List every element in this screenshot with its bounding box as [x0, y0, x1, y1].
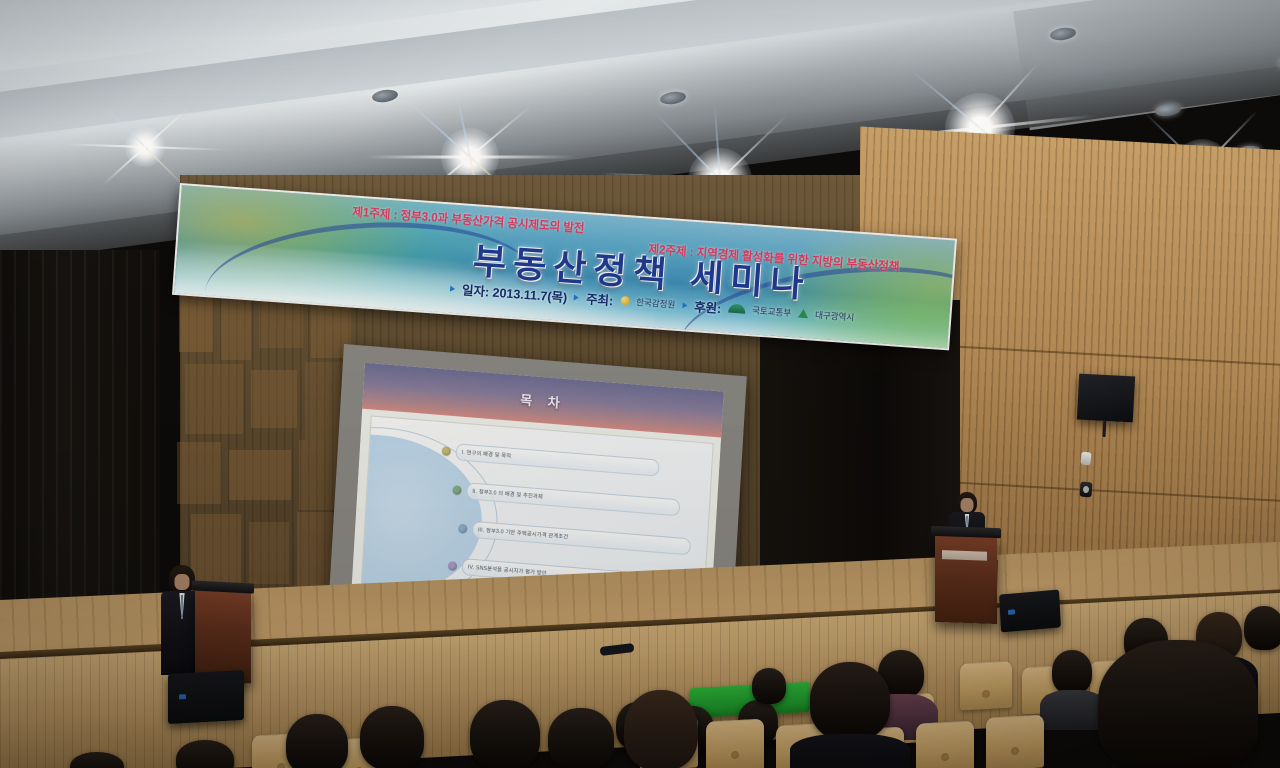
toc-pill: II. 정부3.0 의 배경 및 추진과제: [466, 482, 681, 516]
bullet-triangle-icon: [682, 302, 687, 308]
host-logo-icon: [620, 296, 630, 306]
toc-item: III. 정부3.0 기반 주택공시가격 관계조건: [458, 521, 692, 555]
toc-item-label: II. 정부3.0 의 배경 및 추진과제: [472, 488, 543, 501]
monitor-speaker-right: [999, 589, 1061, 632]
auditorium-seat: [706, 718, 764, 768]
audience-shoulders: [1040, 690, 1106, 730]
slide-title: 목 차: [520, 389, 567, 412]
toc-bullet-dot: [452, 485, 462, 495]
speaker-led: [1008, 609, 1015, 615]
podium-nameplate: [942, 550, 987, 560]
speaker-led: [179, 694, 186, 699]
banner-host-name: 한국감정원: [636, 295, 676, 310]
toc-item: II. 정부3.0 의 배경 및 추진과제: [452, 482, 681, 515]
audience-head: [548, 708, 614, 768]
audience-head: [624, 690, 698, 768]
toc-bullet-dot: [441, 446, 451, 456]
presenter-face: [961, 498, 974, 512]
banner-sponsor-1: 국토교통부: [752, 304, 792, 319]
toc-pill: III. 정부3.0 기반 주택공시가격 관계조건: [471, 521, 691, 556]
toc-item-label: III. 정부3.0 기반 주택공시가격 관계조건: [478, 526, 569, 540]
bullet-triangle-icon: [450, 285, 455, 291]
auditorium-seat: [986, 714, 1044, 768]
audience-head: [286, 714, 348, 768]
toc-bullet-dot: [448, 561, 458, 571]
toc-item: I. 연구의 배경 및 목적: [441, 443, 659, 475]
banner-host-label: 주최:: [586, 288, 614, 309]
audience-head: [470, 700, 540, 768]
podium-right: [935, 534, 997, 624]
banner-sponsor-label: 후원:: [694, 296, 722, 317]
bullet-triangle-icon: [574, 294, 579, 300]
wall-camera: [1079, 482, 1092, 498]
toc-item-label: I. 연구의 배경 및 목적: [461, 449, 511, 460]
daegu-logo-icon: [798, 309, 809, 319]
audience-head: [1052, 650, 1092, 694]
audience-head: [1098, 640, 1258, 768]
auditorium-seat: [960, 661, 1012, 711]
podium-top-surface: [931, 526, 1000, 538]
ministry-logo-icon: [728, 304, 746, 314]
audience-head: [1244, 606, 1280, 650]
audience-shoulders: [790, 734, 910, 768]
podium-left: [195, 589, 251, 684]
audience-head: [360, 706, 424, 768]
presenter-face: [175, 574, 190, 590]
emergency-light: [1080, 452, 1091, 466]
auditorium-seat: [916, 720, 974, 768]
audience-head: [810, 662, 890, 740]
monitor-speaker-left: [168, 670, 244, 724]
audience-head: [752, 668, 786, 704]
toc-bullet-dot: [458, 524, 468, 534]
auditorium-photo: 제1주제 : 정부3.0과 부동산가격 공시제도의 발전 제2주제 : 지역경제…: [0, 0, 1280, 768]
banner-sponsor-2: 대구광역시: [815, 308, 855, 323]
podium-top-surface: [192, 580, 255, 593]
wall-speaker: [1077, 374, 1135, 423]
toc-pill: I. 연구의 배경 및 목적: [455, 444, 659, 477]
